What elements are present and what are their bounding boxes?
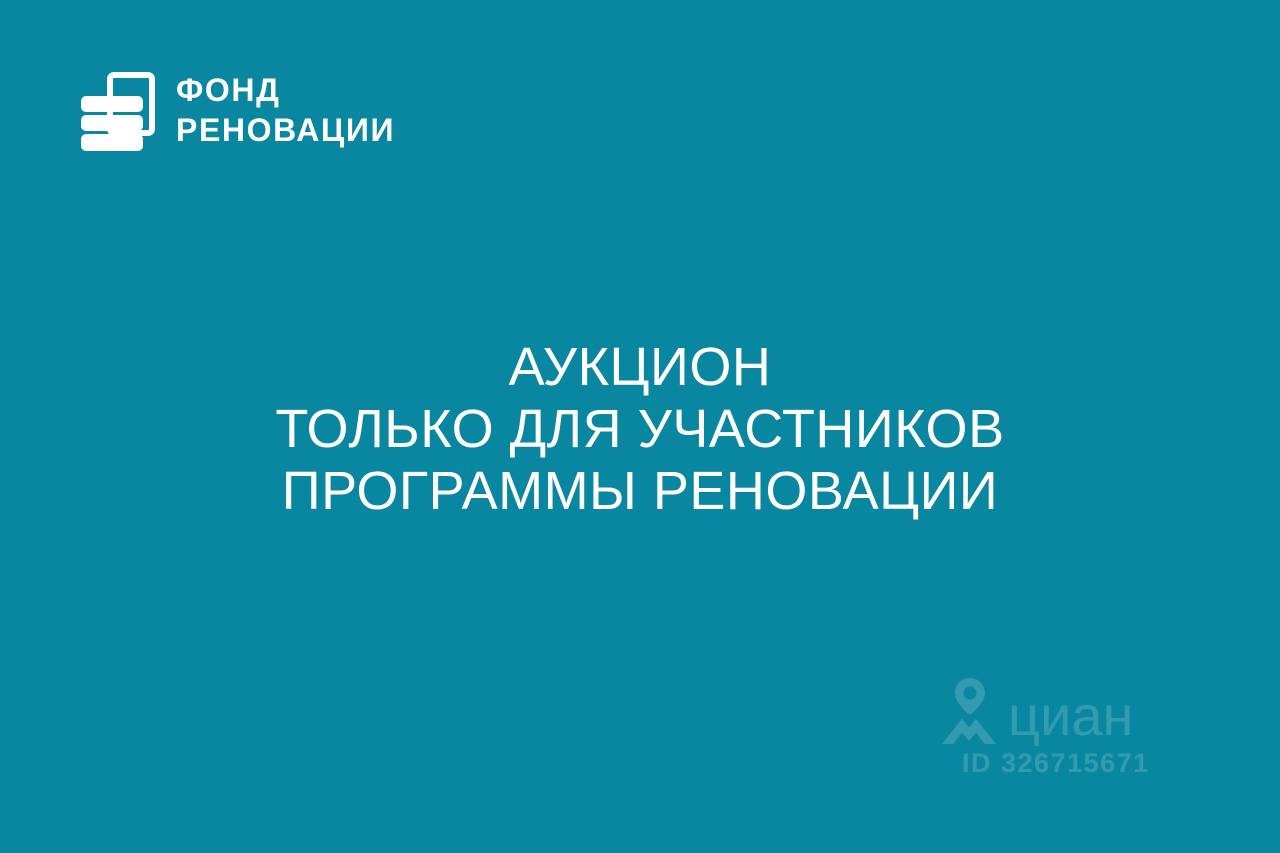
document-bar-1 xyxy=(81,96,143,112)
cian-logo-row: циан xyxy=(938,676,1133,746)
headline-line-2: ТОЛЬКО ДЛЯ УЧАСТНИКОВ xyxy=(0,398,1280,460)
cian-wordmark-text: циан xyxy=(1008,688,1133,744)
headline-block: АУКЦИОН ТОЛЬКО ДЛЯ УЧАСТНИКОВ ПРОГРАММЫ … xyxy=(0,336,1280,522)
document-bar-2 xyxy=(81,115,143,131)
brand-logo: ФОНД РЕНОВАЦИИ xyxy=(78,68,395,152)
cian-watermark: циан ID 326715671 xyxy=(938,676,1178,776)
brand-wordmark: ФОНД РЕНОВАЦИИ xyxy=(176,74,395,146)
cian-pin-logo-icon xyxy=(938,676,1002,746)
listing-id-text: ID 326715671 xyxy=(962,748,1150,779)
document-bar-3 xyxy=(81,134,143,151)
brand-name-line-1: ФОНД xyxy=(176,74,395,106)
headline-line-1: АУКЦИОН xyxy=(0,336,1280,398)
brand-name-line-2: РЕНОВАЦИИ xyxy=(176,114,395,146)
headline-line-3: ПРОГРАММЫ РЕНОВАЦИИ xyxy=(0,460,1280,522)
documents-stack-icon xyxy=(78,68,158,152)
